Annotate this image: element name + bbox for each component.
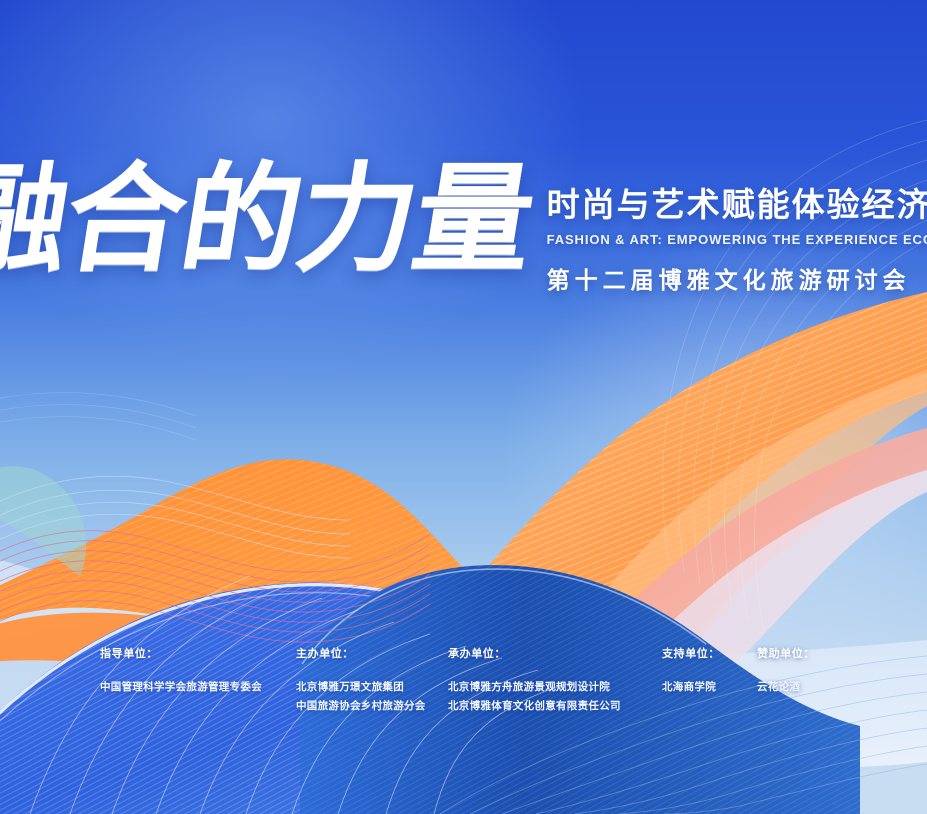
credit-column-sponsor: 赞助单位： 云花论酒	[757, 645, 815, 697]
sky-arc-lines	[663, 120, 927, 632]
credit-label: 承办单位：	[448, 645, 662, 661]
session-title: 第十二届博雅文化旅游研讨会	[547, 261, 927, 295]
credit-column-support: 支持单位： 北海商学院	[662, 645, 757, 697]
background-glow-left	[0, 0, 720, 500]
credit-line: 云花论酒	[757, 678, 815, 697]
credit-label: 赞助单位：	[757, 645, 815, 661]
pink-ribbon	[352, 428, 927, 806]
page-title: 融合的力量	[0, 162, 540, 278]
credit-column-organizer: 承办单位： 北京博雅方舟旅游景观规划设计院 北京博雅体育文化创意有限责任公司	[448, 645, 662, 717]
credit-line: 北海商学院	[662, 678, 757, 697]
credit-line: 北京博雅万璟文旅集团	[296, 678, 448, 697]
subtitle-stack: 时尚与艺术赋能体验经济 FASHION & ART: EMPOWERING TH…	[547, 178, 927, 295]
credit-column-guidance: 指导单位： 中国管理科学学会旅游管理专委会	[100, 645, 296, 697]
light-line-bundle-left	[0, 476, 350, 558]
credit-line: 中国旅游协会乡村旅游分会	[296, 697, 448, 716]
credit-label: 支持单位：	[662, 645, 757, 661]
credit-line: 中国管理科学学会旅游管理专委会	[100, 678, 296, 697]
credit-label: 主办单位：	[296, 645, 448, 661]
subtitle-english: FASHION & ART: EMPOWERING THE EXPERIENCE…	[547, 232, 927, 247]
event-poster: 融合的力量 时尚与艺术赋能体验经济 FASHION & ART: EMPOWER…	[0, 0, 927, 814]
subtitle-chinese: 时尚与艺术赋能体验经济	[547, 178, 927, 226]
title-block: 融合的力量 时尚与艺术赋能体验经济 FASHION & ART: EMPOWER…	[0, 162, 927, 295]
credit-label: 指导单位：	[100, 645, 296, 661]
credits-row: 指导单位： 中国管理科学学会旅游管理专委会 主办单位： 北京博雅万璟文旅集团 中…	[0, 645, 927, 735]
credit-column-host: 主办单位： 北京博雅万璟文旅集团 中国旅游协会乡村旅游分会	[296, 645, 448, 717]
credit-line: 北京博雅体育文化创意有限责任公司	[448, 697, 662, 716]
sky-arc-lines-left	[0, 393, 196, 440]
credit-line: 北京博雅方舟旅游景观规划设计院	[448, 678, 662, 697]
pink-line-bundle	[0, 531, 430, 642]
